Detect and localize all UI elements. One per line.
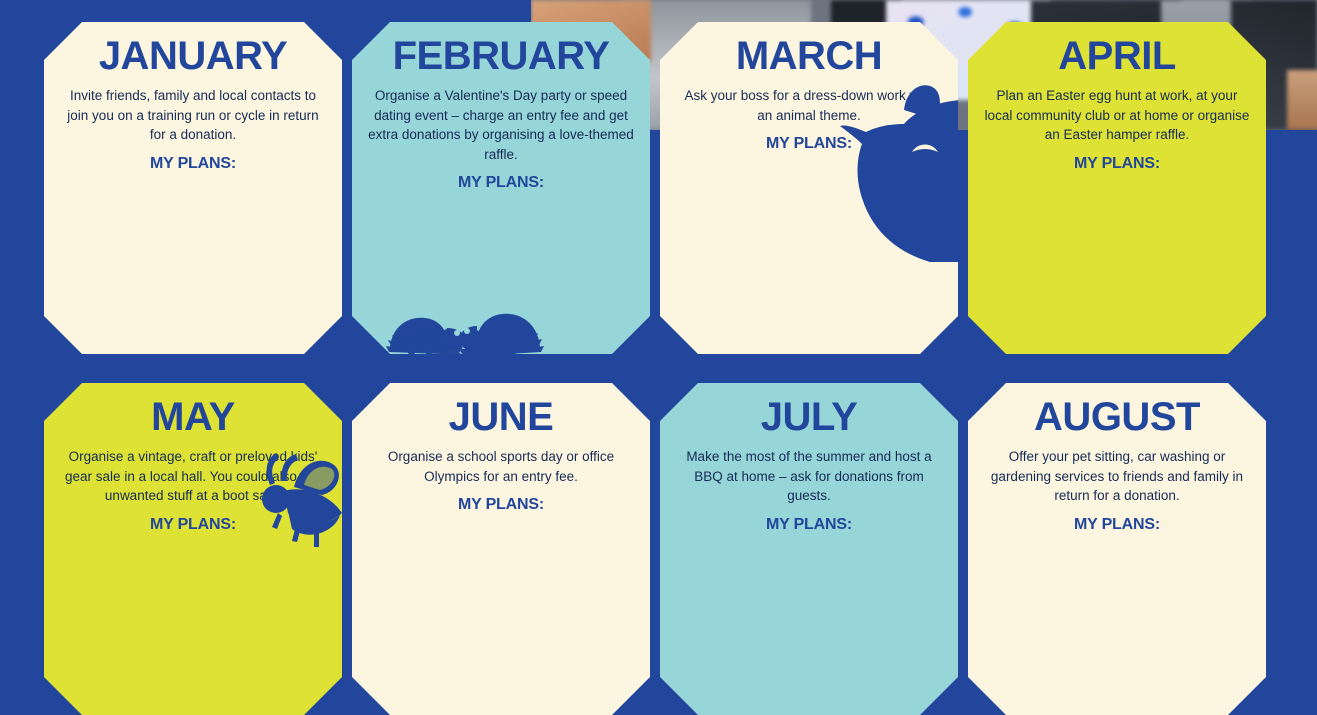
month-title: APRIL (984, 36, 1250, 76)
my-plans-label: MY PLANS: (60, 155, 326, 173)
month-title: JULY (676, 397, 942, 437)
month-title: FEBRUARY (368, 36, 634, 76)
month-card-january[interactable]: JANUARY Invite friends, family and local… (44, 22, 342, 354)
month-card-may[interactable]: MAY Organise a vintage, craft or prelove… (44, 383, 342, 715)
my-plans-label: MY PLANS: (984, 516, 1250, 534)
my-plans-label: MY PLANS: (368, 496, 634, 514)
my-plans-label: MY PLANS: (984, 155, 1250, 173)
my-plans-label: MY PLANS: (368, 174, 634, 192)
month-card-july[interactable]: JULY Make the most of the summer and hos… (660, 383, 958, 715)
month-description: Organise a Valentine's Day party or spee… (368, 86, 634, 164)
month-description: Organise a vintage, craft or preloved ki… (60, 447, 326, 506)
month-description: Offer your pet sitting, car washing or g… (984, 447, 1250, 506)
fundraising-calendar: JANUARY Invite friends, family and local… (0, 0, 1317, 526)
month-title: MAY (60, 397, 326, 437)
hedgehogs-icon (385, 300, 545, 354)
month-card-june[interactable]: JUNE Organise a school sports day or off… (352, 383, 650, 715)
month-title: JUNE (368, 397, 634, 437)
month-card-april[interactable]: APRIL Plan an Easter egg hunt at work, a… (968, 22, 1266, 354)
my-plans-label: MY PLANS: (676, 135, 942, 153)
my-plans-label: MY PLANS: (60, 516, 326, 534)
month-card-august[interactable]: AUGUST Offer your pet sitting, car washi… (968, 383, 1266, 715)
month-description: Plan an Easter egg hunt at work, at your… (984, 86, 1250, 145)
month-description: Make the most of the summer and host a B… (676, 447, 942, 506)
month-title: MARCH (676, 36, 942, 76)
month-title: JANUARY (60, 36, 326, 76)
my-plans-label: MY PLANS: (676, 516, 942, 534)
month-card-march[interactable]: MARCH Ask your boss for a dress-down wor… (660, 22, 958, 354)
month-description: Ask your boss for a dress-down work with… (676, 86, 942, 125)
month-card-february[interactable]: FEBRUARY Organise a Valentine's Day part… (352, 22, 650, 354)
month-description: Invite friends, family and local contact… (60, 86, 326, 145)
month-description: Organise a school sports day or office O… (368, 447, 634, 486)
month-title: AUGUST (984, 397, 1250, 437)
